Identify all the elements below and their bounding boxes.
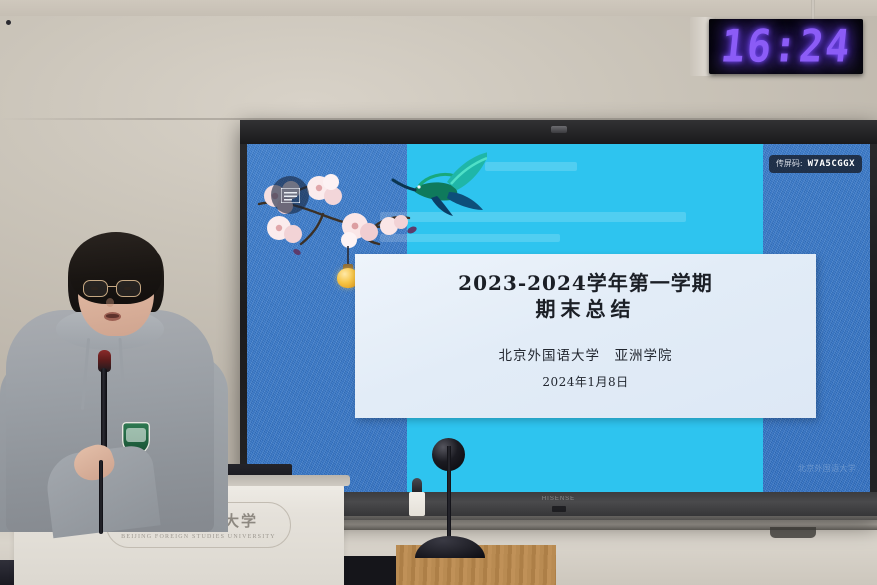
cast-code-value: W7A5CGGX: [808, 159, 855, 169]
display-camera-icon: [551, 126, 567, 133]
display-bezel-top: [240, 120, 877, 144]
shield-badge-inner: [126, 428, 146, 442]
cast-code-label: 传屏码:: [776, 158, 803, 169]
screen-cast-code: 传屏码: W7A5CGGX: [769, 155, 862, 173]
display-screen[interactable]: 2023-2024学年第一学期 期末总结 北京外国语大学 亚洲学院 2024年1…: [247, 144, 870, 492]
display-ir-receiver-icon: [552, 506, 566, 512]
slide-organization: 北京外国语大学 亚洲学院: [499, 344, 673, 364]
presenter: [0, 232, 230, 532]
slide-date: 2024年1月8日: [542, 373, 628, 390]
desk-microphone-body: [409, 492, 425, 516]
slide-title-line-1: 2023-2024学年第一学期: [458, 271, 713, 297]
desk-microphone: [409, 478, 425, 516]
ceiling-strip: [0, 0, 877, 16]
list-lines-icon[interactable]: [271, 176, 309, 214]
presentation-slide: 2023-2024学年第一学期 期末总结 北京外国语大学 亚洲学院 2024年1…: [247, 144, 870, 492]
display-brand-logo: HISENSE: [529, 496, 589, 504]
wall-clock: 16:24: [690, 17, 863, 76]
clock-cord: [811, 0, 815, 20]
slide-title-line-2: 期末总结: [536, 297, 636, 323]
desk-microphone-button: [6, 20, 11, 25]
slide-title-card: 2023-2024学年第一学期 期末总结 北京外国语大学 亚洲学院 2024年1…: [355, 254, 816, 418]
display-foot: [770, 527, 816, 538]
clock-face: 16:24: [709, 19, 863, 74]
handheld-microphone-cord: [99, 460, 103, 534]
presenter-eye-right: [124, 287, 131, 290]
lecture-hall-scene: 16:24: [0, 0, 877, 585]
slide-watermark: 北京外国语大学: [798, 463, 856, 474]
slide-ghost-bar: [485, 162, 577, 171]
presenter-mouth-inner: [106, 314, 119, 318]
front-table-dark: [336, 556, 398, 585]
podium-logo-en: BEIJING FOREIGN STUDIES UNIVERSITY: [121, 534, 276, 540]
presenter-eye-left: [91, 287, 98, 290]
wall-display[interactable]: 2023-2024学年第一学期 期末总结 北京外国语大学 亚洲学院 2024年1…: [240, 120, 877, 520]
ball-microphone-stand: [447, 446, 451, 550]
lantern-string: [347, 246, 349, 265]
presenter-nose: [106, 298, 114, 307]
clock-time: 16:24: [718, 24, 853, 69]
glasses-bridge: [108, 286, 117, 287]
